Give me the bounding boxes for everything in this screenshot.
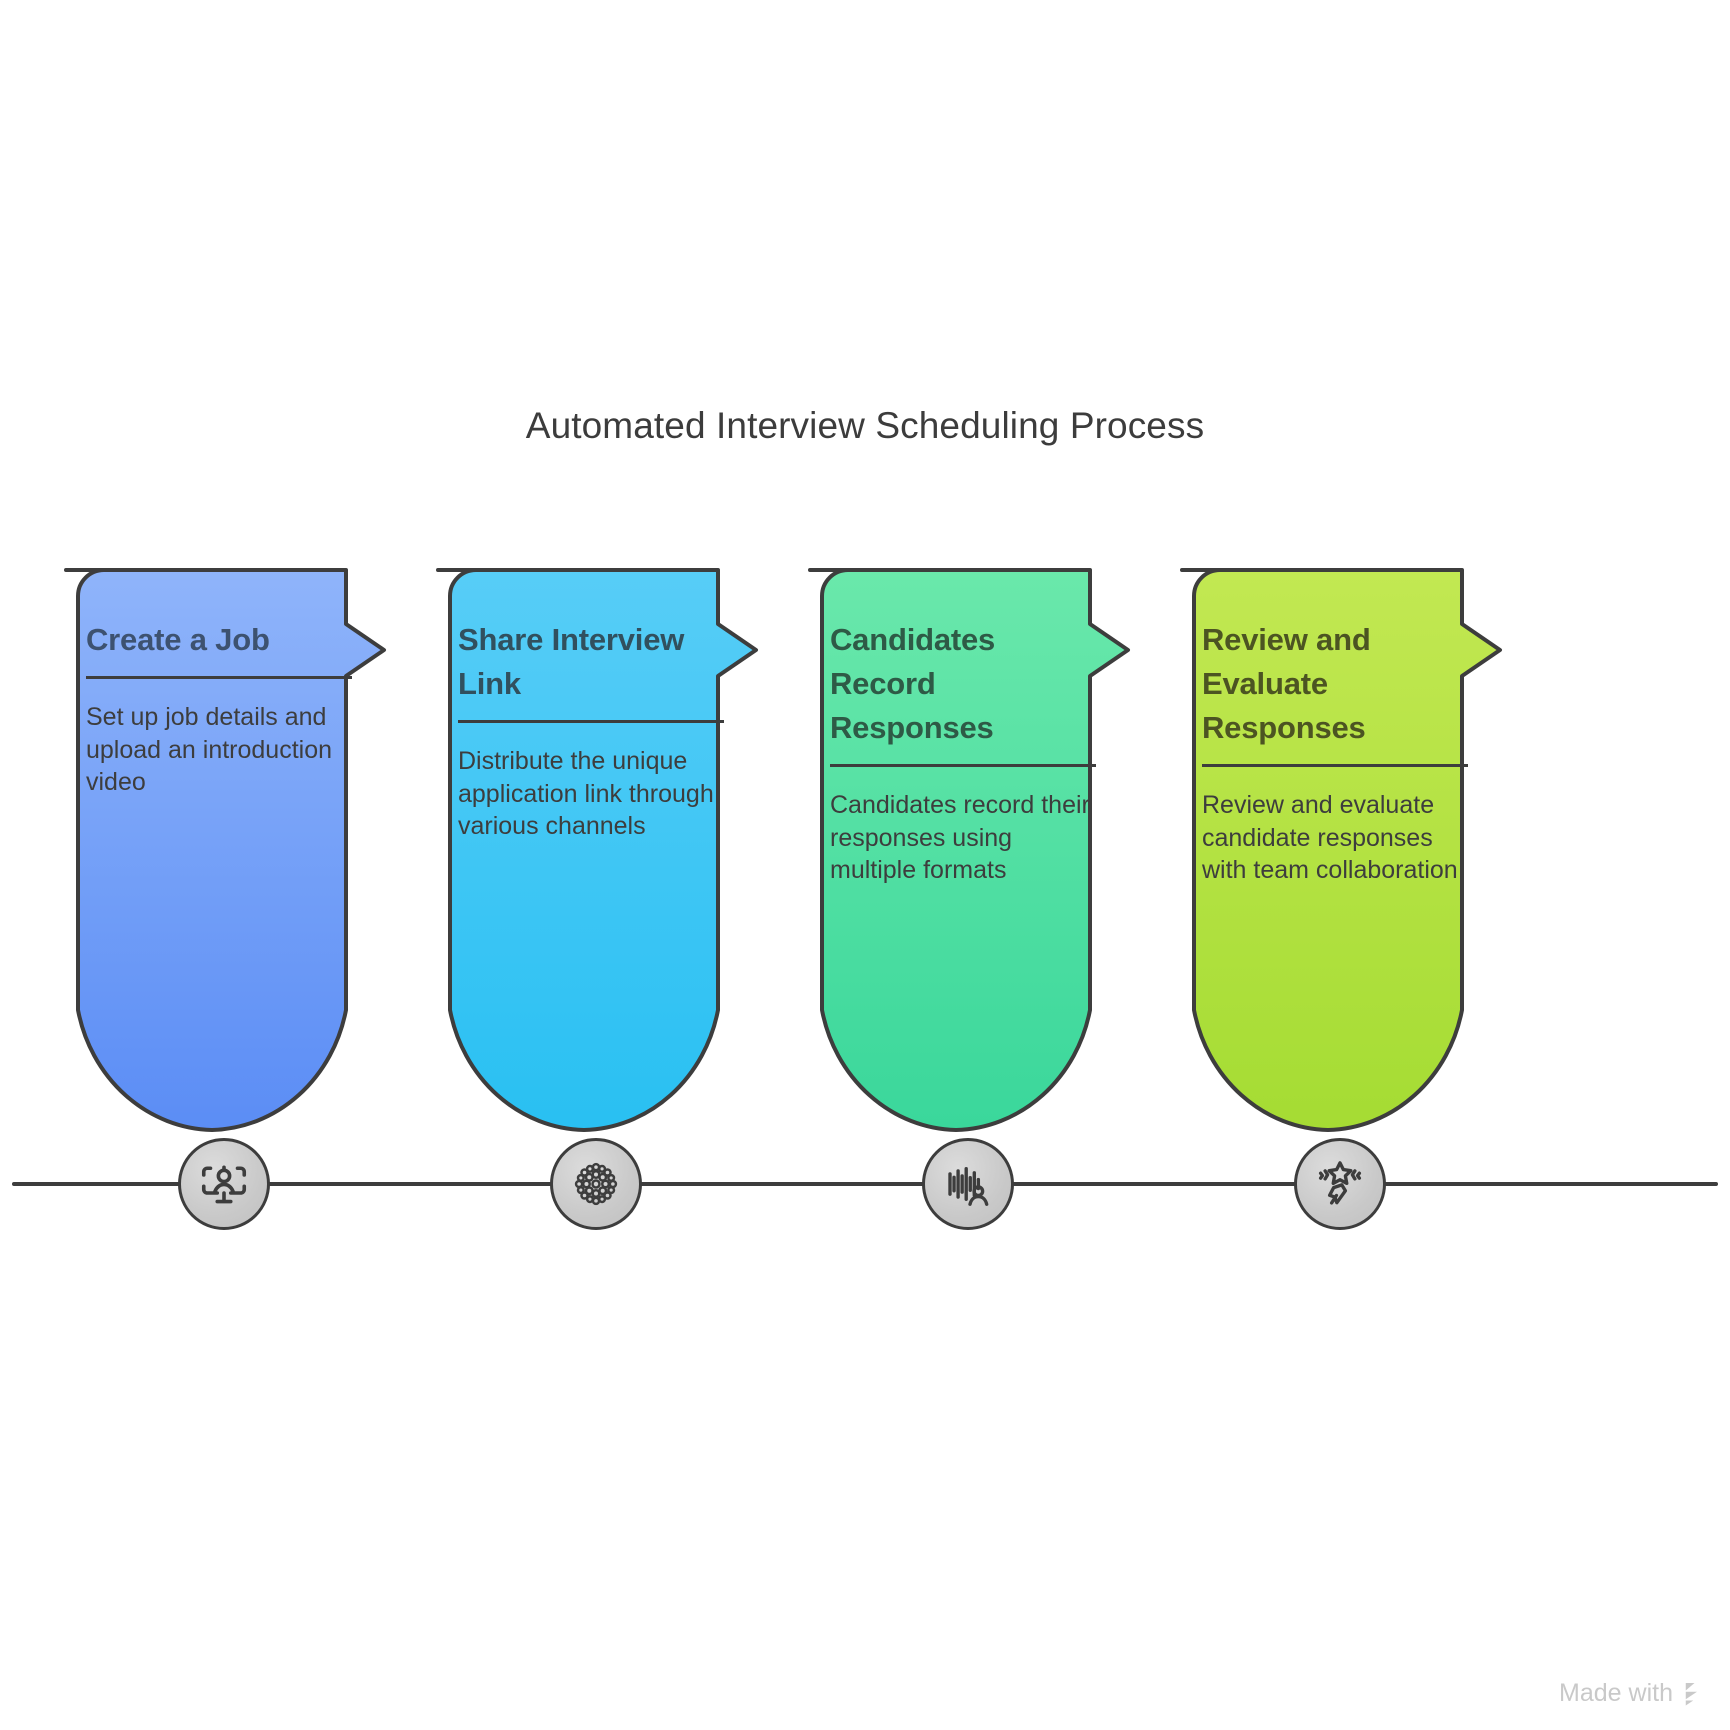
card-content-3: Candidates Record Responses Candidates r… <box>830 618 1102 887</box>
napkin-logo-icon <box>1682 1678 1712 1708</box>
title-divider <box>458 720 724 723</box>
title-divider <box>830 764 1096 767</box>
process-step-card-4[interactable]: Review and Evaluate Responses Review and… <box>1168 570 1512 1190</box>
timeline-node-2[interactable] <box>550 1138 642 1230</box>
timeline-node-3[interactable] <box>922 1138 1014 1230</box>
page-title: Automated Interview Scheduling Process <box>0 405 1730 447</box>
process-step-card-1[interactable]: Create a Job Set up job details and uplo… <box>52 570 396 1190</box>
timeline-node-4[interactable] <box>1294 1138 1386 1230</box>
card-content-4: Review and Evaluate Responses Review and… <box>1202 618 1474 887</box>
star-rating-icon <box>1313 1157 1367 1211</box>
step-title: Candidates Record Responses <box>830 618 1102 750</box>
card-content-1: Create a Job Set up job details and uplo… <box>86 618 358 799</box>
process-step-card-3[interactable]: Candidates Record Responses Candidates r… <box>796 570 1140 1190</box>
process-step-card-2[interactable]: Share Interview Link Distribute the uniq… <box>424 570 768 1190</box>
diagram-canvas: Automated Interview Scheduling Process C… <box>0 0 1730 1730</box>
step-title: Share Interview Link <box>458 618 730 706</box>
process-steps-row: Create a Job Set up job details and uplo… <box>0 570 1730 1190</box>
step-description: Distribute the unique application link t… <box>458 745 730 843</box>
step-description: Set up job details and upload an introdu… <box>86 701 358 799</box>
step-title: Create a Job <box>86 618 358 662</box>
timeline-node-1[interactable] <box>178 1138 270 1230</box>
step-description: Review and evaluate candidate responses … <box>1202 789 1474 887</box>
video-interview-icon <box>197 1157 251 1211</box>
card-content-2: Share Interview Link Distribute the uniq… <box>458 618 730 843</box>
step-title: Review and Evaluate Responses <box>1202 618 1474 750</box>
watermark: Made with <box>1559 1678 1712 1708</box>
title-divider <box>86 676 352 679</box>
step-description: Candidates record their responses using … <box>830 789 1102 887</box>
voice-recording-icon <box>941 1157 995 1211</box>
network-share-icon <box>570 1158 622 1210</box>
title-divider <box>1202 764 1468 767</box>
watermark-label: Made with <box>1559 1679 1673 1708</box>
